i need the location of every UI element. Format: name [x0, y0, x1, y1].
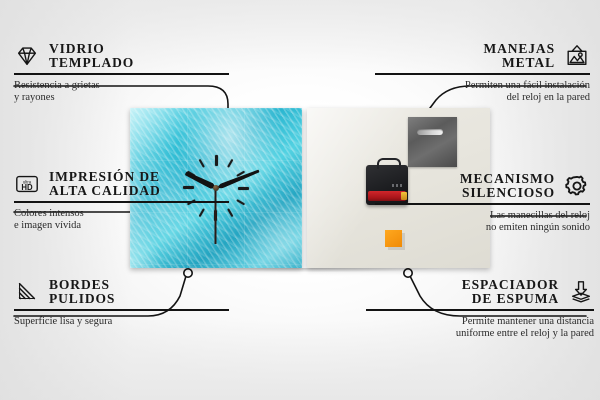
callout-subtitle: Colores intensos e imagen vívida	[14, 208, 229, 233]
callout-divider	[14, 73, 229, 75]
foam-spacer-arrow-icon	[568, 279, 594, 305]
callout-header: MANEJAS METAL	[375, 42, 590, 73]
infographic-canvas: VIDRIO TEMPLADO Resistencia a grietas y …	[0, 0, 600, 400]
callout-header: VIDRIO TEMPLADO	[14, 42, 229, 73]
hanger-slot	[417, 129, 443, 135]
callout-bordes-pulidos: BORDES PULIDOS Superficie lisa y segura	[14, 278, 229, 328]
svg-text:HD: HD	[21, 183, 33, 192]
callout-header: BORDES PULIDOS	[14, 278, 229, 309]
ultra-hd-icon: ultra HD	[14, 171, 40, 197]
callout-subtitle: Superficie lisa y segura	[14, 316, 229, 329]
callout-title: IMPRESIÓN DE ALTA CALIDAD	[49, 170, 161, 198]
callout-header: ESPACIADOR DE ESPUMA	[366, 278, 594, 309]
callout-header: ultra HD IMPRESIÓN DE ALTA CALIDAD	[14, 170, 229, 201]
product-shadow	[138, 268, 490, 278]
callout-subtitle: Resistencia a grietas y rayones	[14, 80, 229, 105]
callout-title: MANEJAS METAL	[483, 42, 555, 70]
callout-divider	[14, 201, 229, 203]
mechanism-hanging-loop	[377, 158, 401, 169]
callout-impresion-alta-calidad: ultra HD IMPRESIÓN DE ALTA CALIDAD Color…	[14, 170, 229, 233]
callout-title: VIDRIO TEMPLADO	[49, 42, 134, 70]
callout-divider	[375, 203, 590, 205]
polished-edge-icon	[14, 279, 40, 305]
callout-divider	[14, 309, 229, 311]
callout-header: MECANISMO SILENCIOSO	[375, 172, 590, 203]
metal-hanger-plate	[408, 117, 457, 167]
gear-icon	[564, 173, 590, 199]
callout-divider	[366, 309, 594, 311]
callout-divider	[375, 73, 590, 75]
callout-manejas-metal: MANEJAS METAL Permiten una fácil instala…	[375, 42, 590, 105]
diamond-icon	[14, 43, 40, 69]
callout-title: BORDES PULIDOS	[49, 278, 115, 306]
callout-espaciador-espuma: ESPACIADOR DE ESPUMA Permite mantener un…	[366, 278, 594, 341]
callout-subtitle: Las manecillas del reloj no emiten ningú…	[375, 210, 590, 235]
hanging-picture-frame-icon	[564, 43, 590, 69]
callout-subtitle: Permite mantener una distancia uniforme …	[366, 316, 594, 341]
callout-title: ESPACIADOR DE ESPUMA	[462, 278, 559, 306]
callout-vidrio-templado: VIDRIO TEMPLADO Resistencia a grietas y …	[14, 42, 229, 105]
callout-subtitle: Permiten una fácil instalación del reloj…	[375, 80, 590, 105]
callout-title: MECANISMO SILENCIOSO	[460, 172, 555, 200]
callout-mecanismo-silencioso: MECANISMO SILENCIOSO Las manecillas del …	[375, 172, 590, 235]
